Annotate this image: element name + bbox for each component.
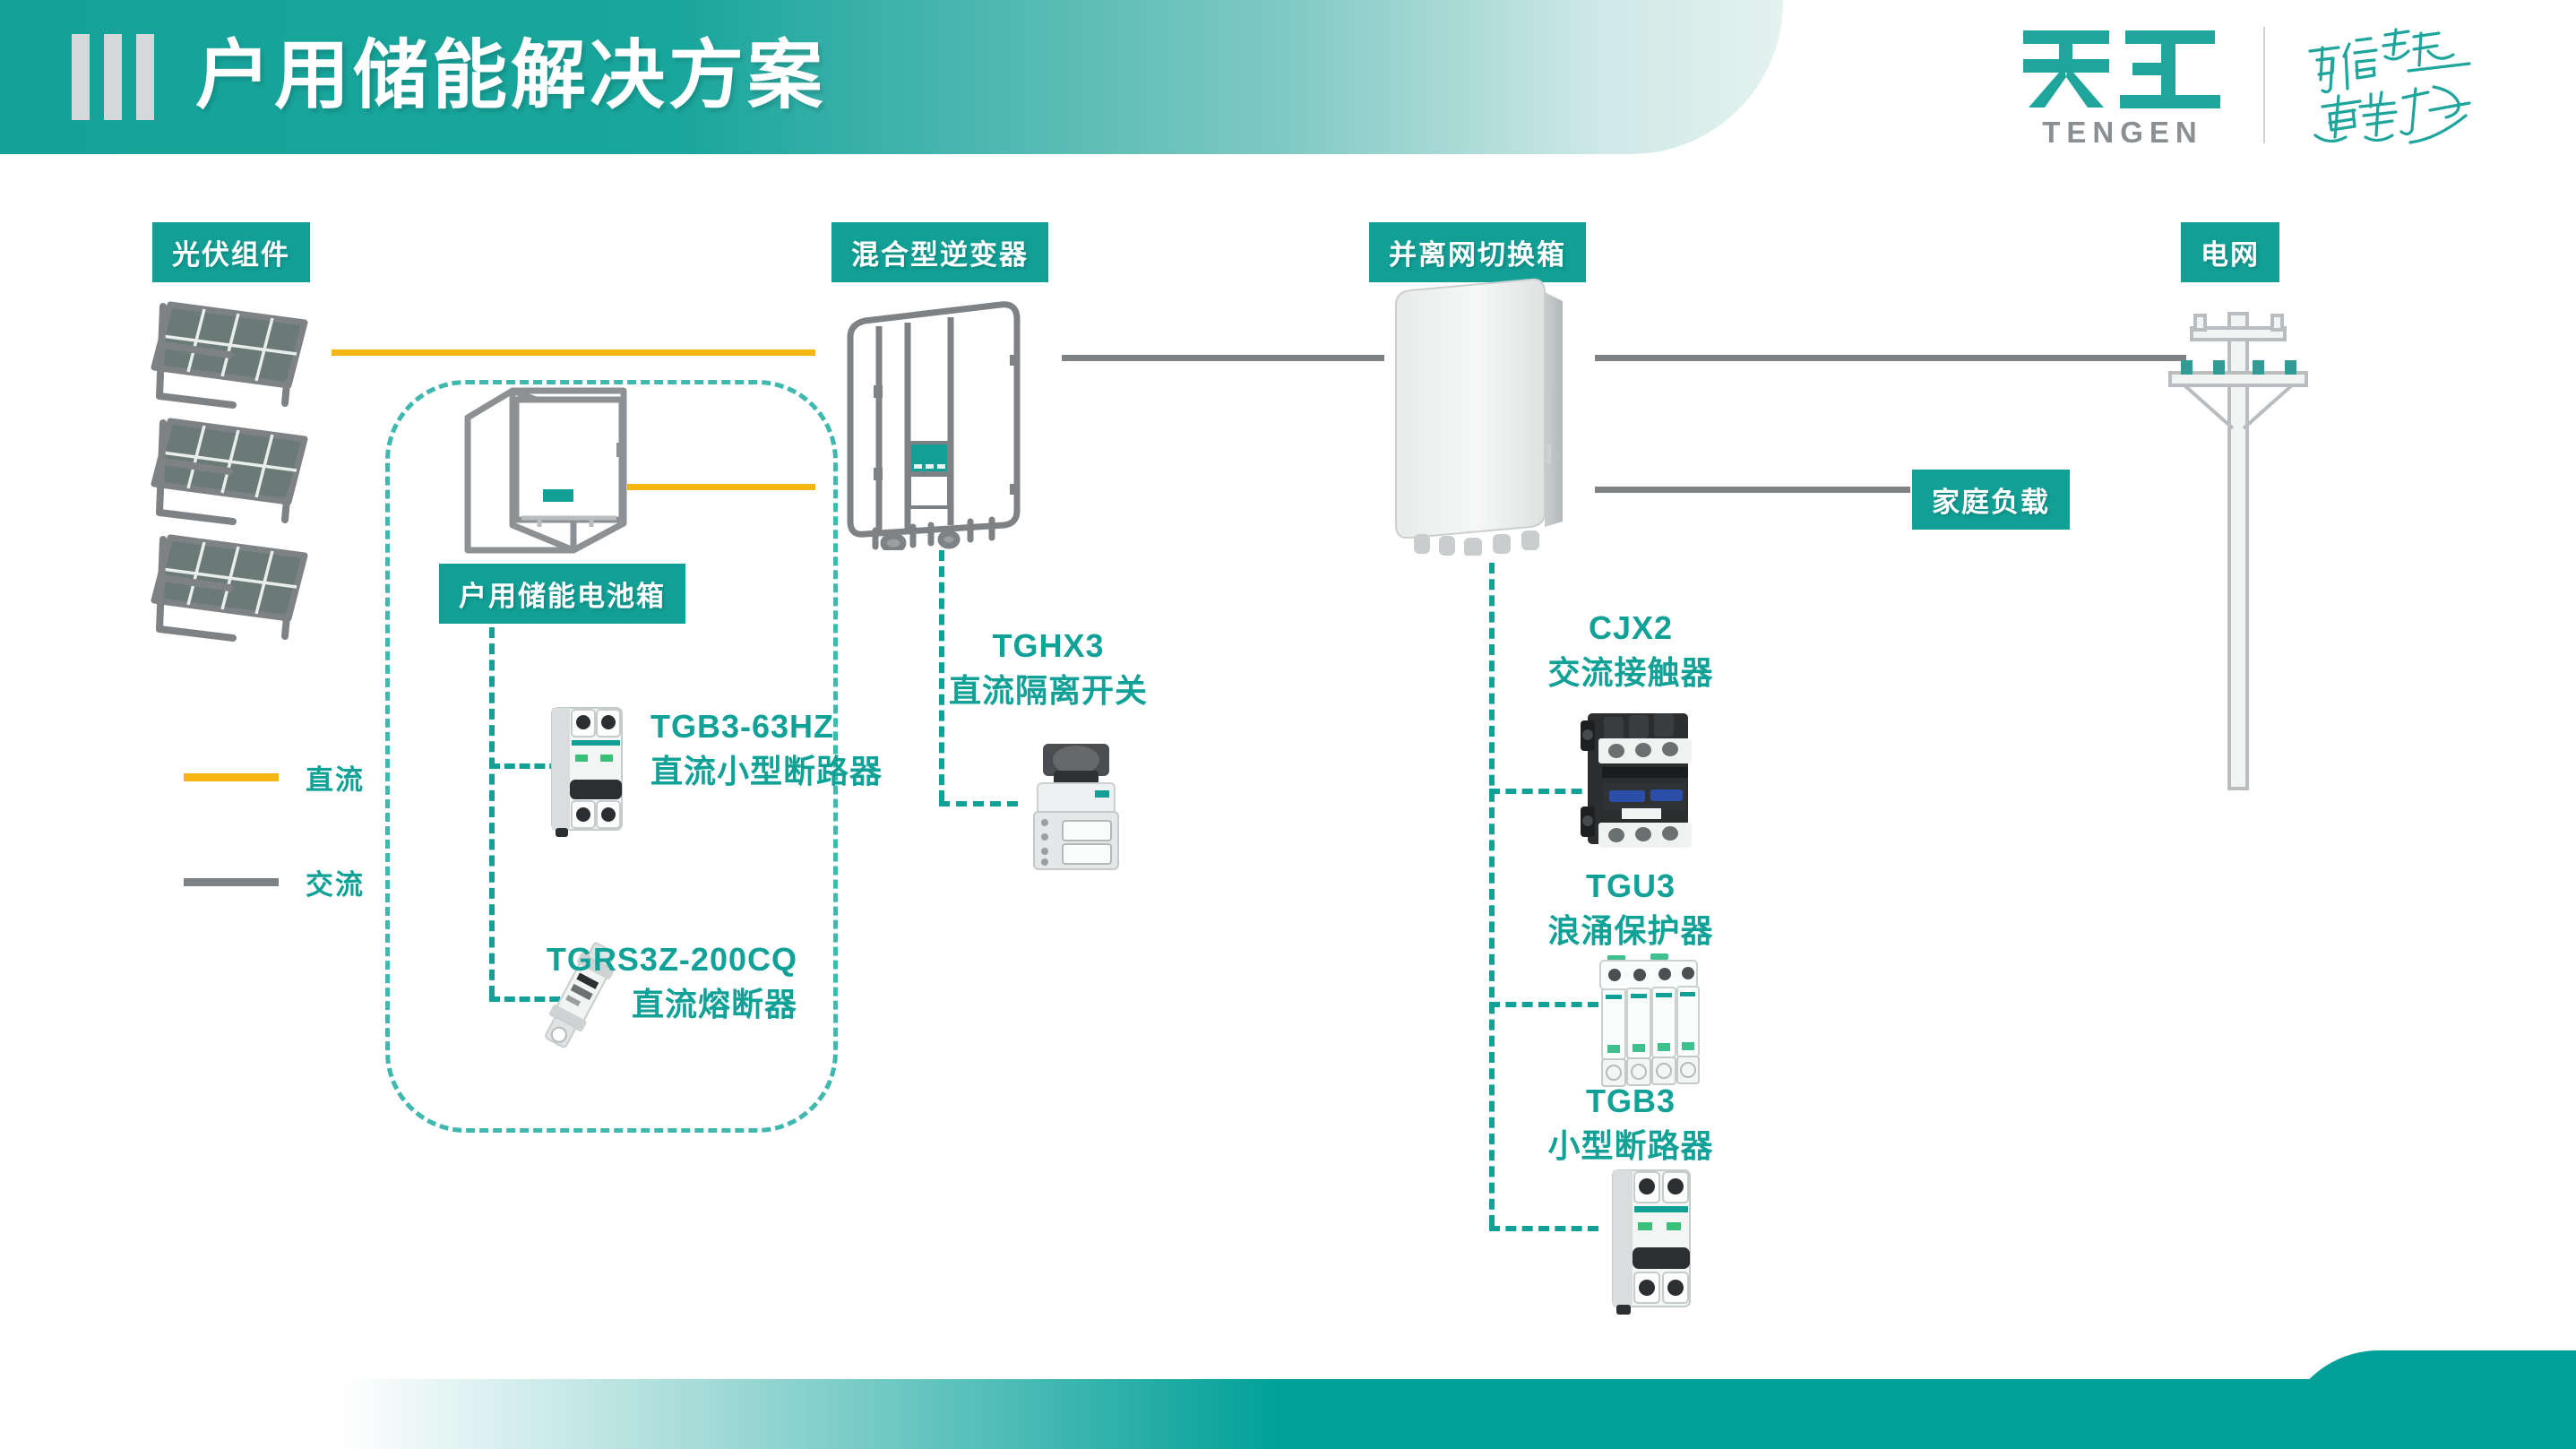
product-model-tghx3: TGHX3 [914, 627, 1183, 665]
section-label-pv: 光伏组件 [152, 222, 310, 282]
page-footer [0, 1350, 2576, 1449]
solar-panel-icon [143, 412, 323, 529]
dc-mcb-product-image [534, 697, 642, 841]
slogan-handwriting-icon [2303, 24, 2482, 145]
battery-cabinet-icon [457, 384, 636, 554]
section-label-home-load: 家庭负载 [1912, 470, 2070, 530]
product-name-cjx2: 交流接触器 [1478, 647, 1783, 694]
solar-panel-icon [143, 296, 323, 412]
wire-dc-pv-to-inverter [332, 349, 815, 356]
section-label-switch-box: 并离网切换箱 [1369, 222, 1586, 282]
legend-label-dc: 直流 [306, 757, 365, 798]
wire-ac-inverter-to-switchbox [1062, 355, 1384, 361]
tengen-cn-logo-icon [2020, 20, 2226, 114]
connector-inverter-to-tghx3 [939, 801, 1018, 806]
mcb-product-image [1593, 1158, 1710, 1319]
footer-gradient-band [340, 1379, 2576, 1449]
page-header: 户用储能解决方案 [0, 0, 1783, 154]
logo-divider [2263, 27, 2265, 143]
legend-label-ac: 交流 [306, 862, 365, 902]
product-model-cjx2: CJX2 [1478, 609, 1783, 647]
section-label-inverter: 混合型逆变器 [831, 222, 1048, 282]
product-model-tgb3-63hz: TGB3-63HZ [650, 708, 883, 746]
connector-battery-trunk [489, 627, 495, 996]
solar-panel-icon [143, 529, 323, 645]
page-title: 户用储能解决方案 [195, 22, 826, 129]
header-bars-icon [72, 34, 154, 120]
logo-wordmark: TENGEN [2042, 116, 2203, 150]
connector-switchbox-to-tgb3 [1489, 1226, 1598, 1231]
logo-mark: TENGEN [2020, 20, 2226, 150]
footer-corner-curve [2280, 1350, 2576, 1449]
utility-pole-icon [2158, 296, 2319, 798]
poster-canvas: 户用储能解决方案 TENGEN [0, 0, 2576, 1449]
product-model-tgb3: TGB3 [1478, 1082, 1783, 1120]
ac-contactor-product-image [1568, 697, 1711, 858]
grid-switch-box-icon [1387, 278, 1575, 556]
product-name-tgb3-63hz: 直流小型断路器 [650, 746, 883, 792]
legend-item-ac: 交流 [184, 862, 365, 902]
product-caption-cjx2: CJX2 交流接触器 [1478, 609, 1783, 694]
product-model-tgrs3z-200cq: TGRS3Z-200CQ [502, 941, 797, 979]
product-caption-tghx3: TGHX3 直流隔离开关 [914, 627, 1183, 712]
legend-swatch-ac [184, 878, 279, 886]
wire-ac-switchbox-to-load [1595, 487, 1910, 493]
legend-item-dc: 直流 [184, 757, 365, 798]
wire-ac-switchbox-to-grid [1595, 355, 2186, 361]
brand-logo: TENGEN [2020, 20, 2482, 150]
section-label-grid: 电网 [2181, 222, 2279, 282]
surge-protector-product-image [1584, 950, 1710, 1093]
product-model-tgu3: TGU3 [1478, 867, 1783, 905]
product-caption-tgu3: TGU3 浪涌保护器 [1478, 867, 1783, 952]
wire-dc-battery-to-inverter [627, 484, 815, 490]
product-name-tgu3: 浪涌保护器 [1478, 905, 1783, 952]
product-name-tghx3: 直流隔离开关 [914, 665, 1183, 712]
product-caption-tgb3: TGB3 小型断路器 [1478, 1082, 1783, 1167]
product-caption-tgb3-63hz: TGB3-63HZ 直流小型断路器 [650, 708, 883, 792]
legend: 直流 交流 [184, 757, 365, 967]
legend-swatch-dc [184, 773, 279, 781]
product-name-tgrs3z-200cq: 直流熔断器 [502, 979, 797, 1025]
hybrid-inverter-icon [838, 299, 1044, 550]
dc-isolator-product-image [1012, 717, 1138, 878]
connector-switchbox-to-tgu3 [1489, 1002, 1598, 1007]
product-caption-tgrs3z-200cq: TGRS3Z-200CQ 直流熔断器 [502, 941, 797, 1025]
